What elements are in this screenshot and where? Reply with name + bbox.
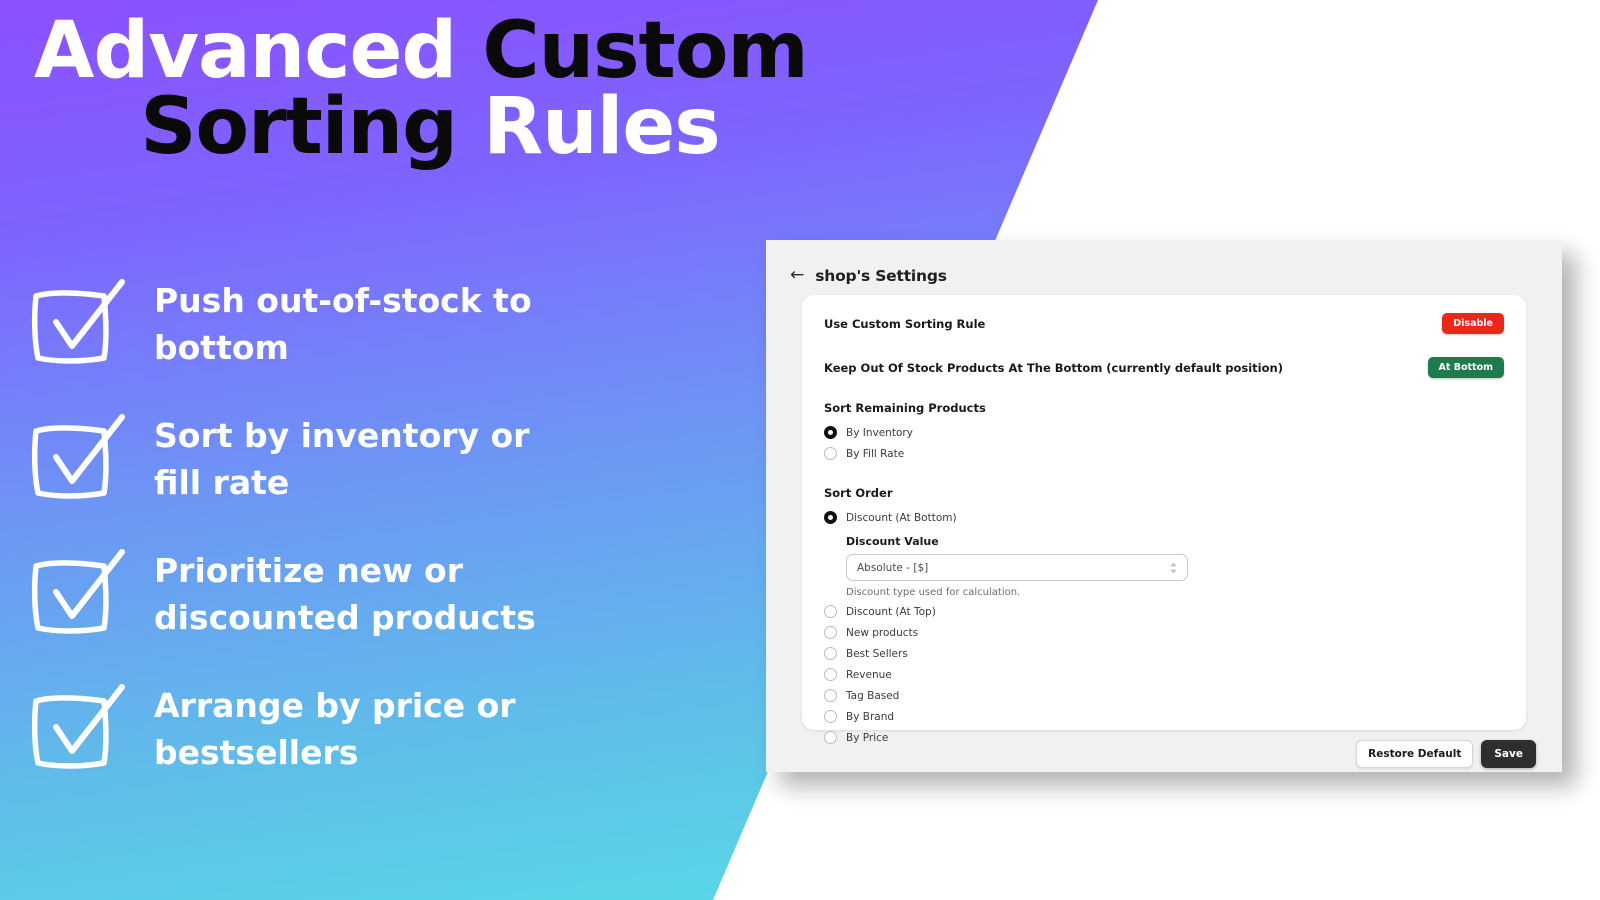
page-title: Advanced Custom Sorting Rules <box>0 14 840 165</box>
radio-unselected-icon[interactable] <box>824 647 837 660</box>
radio-revenue[interactable]: Revenue <box>824 664 1504 685</box>
radio-selected-icon[interactable] <box>824 426 837 439</box>
radio-new-products[interactable]: New products <box>824 622 1504 643</box>
checkbox-checked-icon <box>30 544 130 640</box>
radio-by-brand[interactable]: By Brand <box>824 706 1504 727</box>
checkbox-checked-icon <box>30 409 130 505</box>
settings-window: ← shop's Settings Use Custom Sorting Rul… <box>766 240 1562 772</box>
discount-value-label: Discount Value <box>846 535 1504 548</box>
radio-label: Best Sellers <box>846 648 908 660</box>
radio-label: Discount (At Top) <box>846 606 936 618</box>
window-title: shop's Settings <box>815 267 947 285</box>
sort-remaining-title: Sort Remaining Products <box>824 401 1504 415</box>
radio-unselected-icon[interactable] <box>824 447 837 460</box>
radio-label: By Brand <box>846 711 894 723</box>
radio-label: New products <box>846 627 918 639</box>
save-button[interactable]: Save <box>1481 740 1536 768</box>
out-of-stock-label: Keep Out Of Stock Products At The Bottom… <box>824 361 1283 375</box>
radio-selected-icon[interactable] <box>824 511 837 524</box>
use-custom-sorting-rule-row: Use Custom Sorting Rule Disable <box>824 313 1504 334</box>
radio-label: Discount (At Bottom) <box>846 512 957 524</box>
radio-label: Tag Based <box>846 690 899 702</box>
out-of-stock-row: Keep Out Of Stock Products At The Bottom… <box>824 357 1504 378</box>
radio-best-sellers[interactable]: Best Sellers <box>824 643 1504 664</box>
radio-label: Revenue <box>846 669 892 681</box>
at-bottom-button[interactable]: At Bottom <box>1428 357 1504 378</box>
radio-by-fill-rate[interactable]: By Fill Rate <box>824 443 1504 464</box>
discount-value-block: Discount Value Absolute - [$] Discount t… <box>846 535 1504 598</box>
checkbox-checked-icon <box>30 274 130 370</box>
radio-by-inventory[interactable]: By Inventory <box>824 422 1504 443</box>
discount-value-selected-option: Absolute - [$] <box>857 562 928 574</box>
feature-label: Sort by inventory or fill rate <box>154 407 584 507</box>
feature-label: Prioritize new or discounted products <box>154 542 584 642</box>
disable-button[interactable]: Disable <box>1442 313 1504 334</box>
chevron-up-down-icon[interactable] <box>1169 561 1178 574</box>
discount-value-help-text: Discount type used for calculation. <box>846 587 1504 598</box>
restore-default-button[interactable]: Restore Default <box>1356 740 1473 768</box>
radio-unselected-icon[interactable] <box>824 710 837 723</box>
feature-item: Sort by inventory or fill rate <box>30 407 670 512</box>
feature-label: Push out-of-stock to bottom <box>154 272 584 372</box>
headline-word-sorting: Sorting <box>140 82 457 172</box>
radio-label: By Inventory <box>846 427 913 439</box>
radio-unselected-icon[interactable] <box>824 689 837 702</box>
radio-unselected-icon[interactable] <box>824 668 837 681</box>
back-arrow-icon[interactable]: ← <box>790 267 804 284</box>
radio-label: By Fill Rate <box>846 448 904 460</box>
settings-footer: Restore Default Save <box>802 740 1536 768</box>
radio-tag-based[interactable]: Tag Based <box>824 685 1504 706</box>
feature-item: Push out-of-stock to bottom <box>30 272 670 377</box>
radio-unselected-icon[interactable] <box>824 605 837 618</box>
discount-value-select[interactable]: Absolute - [$] <box>846 554 1188 581</box>
use-custom-sorting-rule-label: Use Custom Sorting Rule <box>824 317 985 331</box>
headline-word-rules: Rules <box>483 82 720 172</box>
checkbox-checked-icon <box>30 679 130 775</box>
feature-list: Push out-of-stock to bottom Sort by inve… <box>30 272 670 812</box>
feature-label: Arrange by price or bestsellers <box>154 677 584 777</box>
radio-discount-at-top[interactable]: Discount (At Top) <box>824 601 1504 622</box>
feature-item: Prioritize new or discounted products <box>30 542 670 647</box>
radio-unselected-icon[interactable] <box>824 626 837 639</box>
feature-item: Arrange by price or bestsellers <box>30 677 670 782</box>
sort-order-title: Sort Order <box>824 486 1504 500</box>
window-header: ← shop's Settings <box>766 240 1562 295</box>
settings-card: Use Custom Sorting Rule Disable Keep Out… <box>802 295 1526 730</box>
radio-discount-at-bottom[interactable]: Discount (At Bottom) <box>824 507 1504 528</box>
